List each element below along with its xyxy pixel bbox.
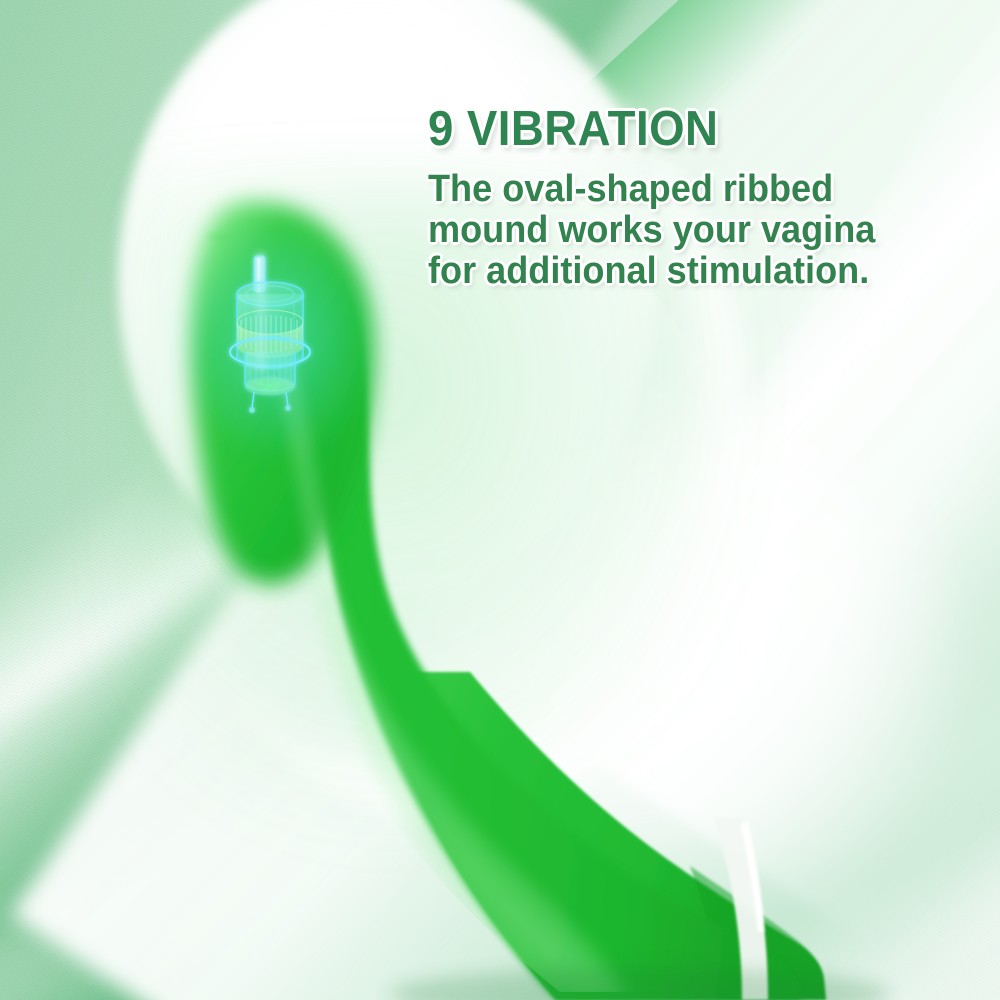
description-line-1: The oval-shaped ribbed: [428, 169, 946, 210]
white-glow-lower: [340, 380, 960, 920]
feature-copy-block: 9 VIBRATION The oval-shaped ribbed mound…: [428, 103, 973, 292]
description-line-2: mound works your vagina: [428, 210, 946, 251]
product-feature-banner: 9 VIBRATION The oval-shaped ribbed mound…: [0, 0, 1000, 1000]
description-line-3: for additional stimulation.: [428, 251, 946, 292]
feature-description: The oval-shaped ribbed mound works your …: [428, 169, 946, 292]
headline-9-vibration: 9 VIBRATION: [428, 103, 935, 155]
x-ray-motor-graphic: [212, 248, 342, 428]
motor-glow: [178, 220, 376, 460]
